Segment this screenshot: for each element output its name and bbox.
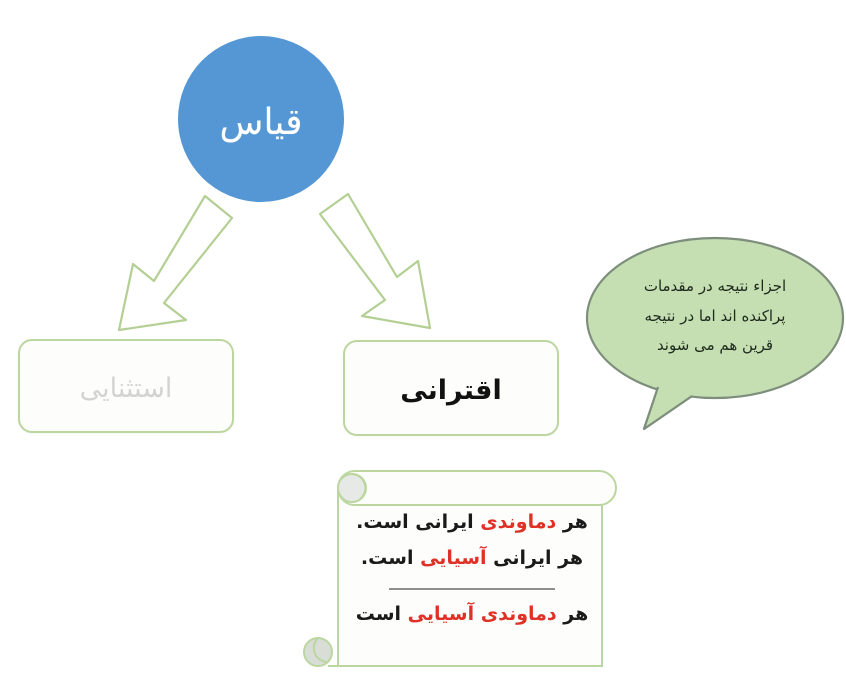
callout-bubble[interactable]: اجزاء نتیجه در مقدمات پراکنده اند اما در… (584, 233, 846, 433)
premise-2-part-2: آسیایی (420, 547, 486, 569)
syllogism-divider (389, 588, 555, 590)
premise-1-part-1: هر (556, 511, 588, 533)
down-right-arrow (320, 194, 430, 328)
syllogism-premise-1: هر دماوندی ایرانی است. (356, 513, 588, 532)
root-node-label: قیاس (220, 105, 303, 141)
conclusion-part-2: دماوندی آسیایی (408, 603, 557, 625)
syllogism-scroll[interactable]: هر دماوندی ایرانی است. هر ایرانی آسیایی … (302, 466, 618, 674)
syllogism-premise-2: هر ایرانی آسیایی است. (361, 549, 583, 568)
diagram-canvas: قیاس استثنایی اقترانی اجزاء نتیجه در مقد… (0, 0, 846, 683)
branch-box-conjunctive[interactable]: اقترانی (343, 340, 559, 436)
callout-line-2: پراکنده اند اما در نتیجه (645, 308, 786, 325)
root-node-qiyas[interactable]: قیاس (178, 36, 344, 202)
down-left-arrow (119, 196, 232, 330)
branch-label-conjunctive: اقترانی (400, 377, 501, 404)
premise-1-part-3: ایرانی است. (356, 511, 480, 533)
conclusion-part-3: است (356, 603, 408, 625)
premise-2-part-3: است. (361, 547, 420, 569)
branch-label-exceptional: استثنایی (80, 375, 173, 402)
premise-1-part-2: دماوندی (480, 511, 556, 533)
branch-box-exceptional[interactable]: استثنایی (18, 339, 234, 433)
callout-line-3: قرین هم می شوند (657, 337, 773, 354)
conclusion-part-1: هر (557, 603, 589, 625)
callout-line-1: اجزاء نتیجه در مقدمات (644, 278, 786, 295)
syllogism-conclusion: هر دماوندی آسیایی است (356, 605, 589, 624)
syllogism-content: هر دماوندی ایرانی است. هر ایرانی آسیایی … (338, 504, 606, 666)
callout-bubble-text: اجزاء نتیجه در مقدمات پراکنده اند اما در… (610, 261, 820, 371)
premise-2-part-1: هر ایرانی (487, 547, 584, 569)
